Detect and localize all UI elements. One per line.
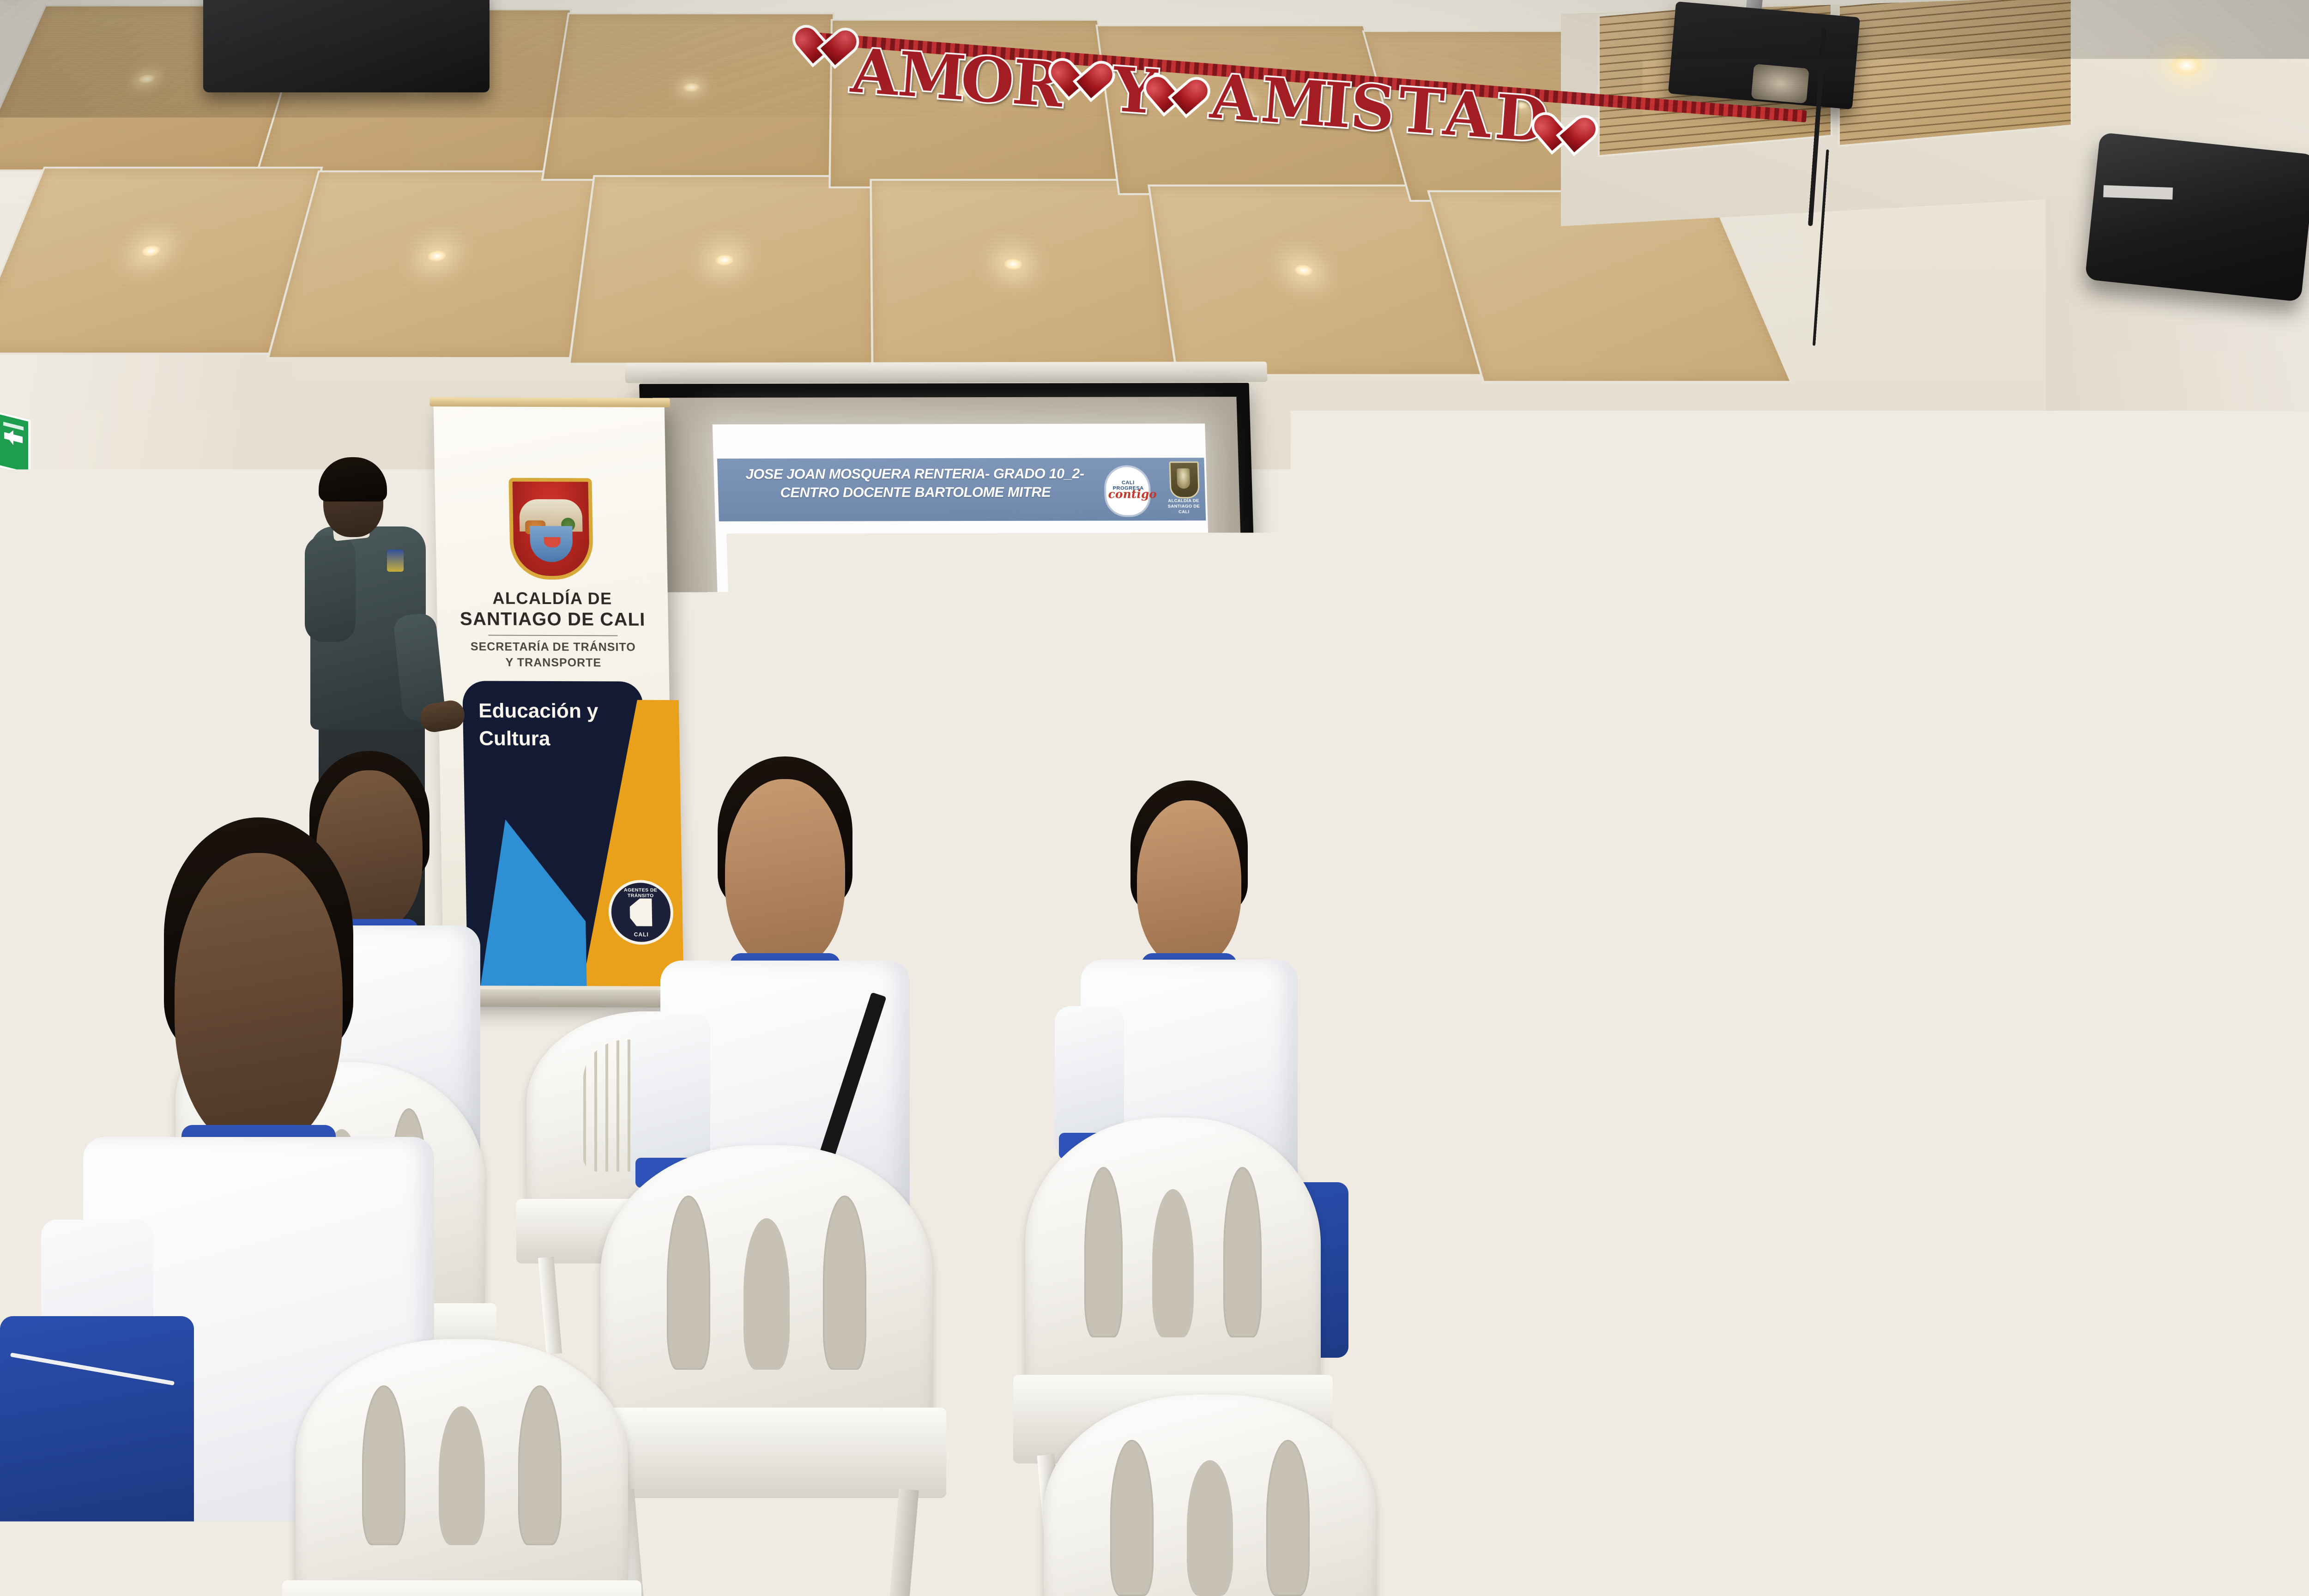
garland-letter: O: [959, 48, 1016, 113]
presenter-sleeve: [305, 536, 356, 642]
ceiling-grille: [1838, 0, 2073, 147]
logo-bottom-text: contigo: [1108, 487, 1149, 501]
heart-icon: [810, 29, 852, 69]
shield-icon: [1169, 461, 1200, 498]
ceiling-tile: [568, 175, 876, 365]
officer-profile-icon: [629, 898, 652, 926]
banner-title-line2: SANTIAGO DE CALI: [437, 609, 668, 630]
banner-title-line1: ALCALDÍA DE: [437, 588, 668, 609]
garland-letter: A: [849, 41, 901, 105]
heart-icon: [1066, 62, 1108, 102]
banner-subtitle-line2: Y TRANSPORTE: [438, 656, 669, 670]
alcaldia-shield-logo: ALCALDÍA DE SANTIAGO DE CALI: [1166, 461, 1202, 519]
ceiling-tile: [266, 170, 598, 359]
ceiling-tile: [870, 179, 1179, 369]
logo-line1: ALCALDÍA DE: [1168, 498, 1199, 503]
garland-letter: M: [1259, 70, 1331, 135]
heart-icon: [1161, 79, 1203, 118]
banner-highlight-line1: Educación y: [478, 699, 598, 723]
banner-top-rail: [429, 397, 670, 407]
screen-roller[interactable]: [625, 362, 1268, 383]
auditorium-photo: A M O R Y A M I S T A D JOSE JOAN MOSQUE…: [0, 0, 2309, 1596]
white-plastic-chair[interactable]: [296, 1339, 628, 1596]
garland-letter: S: [1348, 76, 1397, 140]
banner-highlight-line2: Cultura: [479, 727, 550, 750]
garland-letter: T: [1396, 80, 1446, 144]
ceiling-tile: [0, 167, 323, 355]
white-plastic-chair[interactable]: [1602, 1422, 1926, 1596]
wall-speaker-left-icon: [203, 0, 490, 92]
cali-coat-of-arms-icon: [508, 478, 593, 580]
eitb-mark-icon: ⏥: [983, 565, 995, 580]
white-plastic-chair[interactable]: [1967, 965, 2226, 1316]
logo-line2: SANTIAGO DE CALI: [1168, 504, 1200, 514]
officer-shoulder-patch-icon: [1680, 711, 1702, 735]
white-plastic-chair[interactable]: [1044, 1395, 1376, 1596]
heart-icon: [1549, 116, 1591, 156]
recessed-downlight: [1004, 259, 1023, 270]
recessed-downlight: [2170, 55, 2203, 76]
garland-letter: A: [1209, 66, 1260, 130]
presenter-badge: [387, 550, 404, 572]
id-card: [1775, 921, 1795, 946]
emergency-exit-icon: [0, 411, 30, 475]
white-plastic-chair[interactable]: [1963, 1404, 2286, 1596]
white-plastic-chair[interactable]: [600, 1145, 933, 1596]
slide-title: JOSE JOAN MOSQUERA RENTERIA- GRADO 10_2-…: [727, 465, 1103, 502]
acoustic-wall-panel: [92, 499, 171, 923]
garland-letter: M: [896, 44, 968, 109]
wall-speaker-right-icon: [2085, 132, 2309, 302]
garland-letter: A: [1441, 83, 1493, 147]
banner-subtitle-line1: SECRETARÍA DE TRÁNSITO: [438, 640, 669, 654]
seated-student: [2277, 868, 2309, 1127]
cali-progresa-logo: CALI PROGRESA contigo: [1102, 459, 1152, 519]
ceiling-tile: [541, 12, 835, 181]
eitb-text: eitb.com: [994, 565, 1042, 579]
acoustic-wall-panel: [2254, 501, 2309, 931]
yellow-note[interactable]: [1898, 782, 1922, 792]
eitb-watermark: ⏥eitb.com: [984, 565, 1042, 580]
acoustic-wall-panel: [18, 485, 97, 909]
